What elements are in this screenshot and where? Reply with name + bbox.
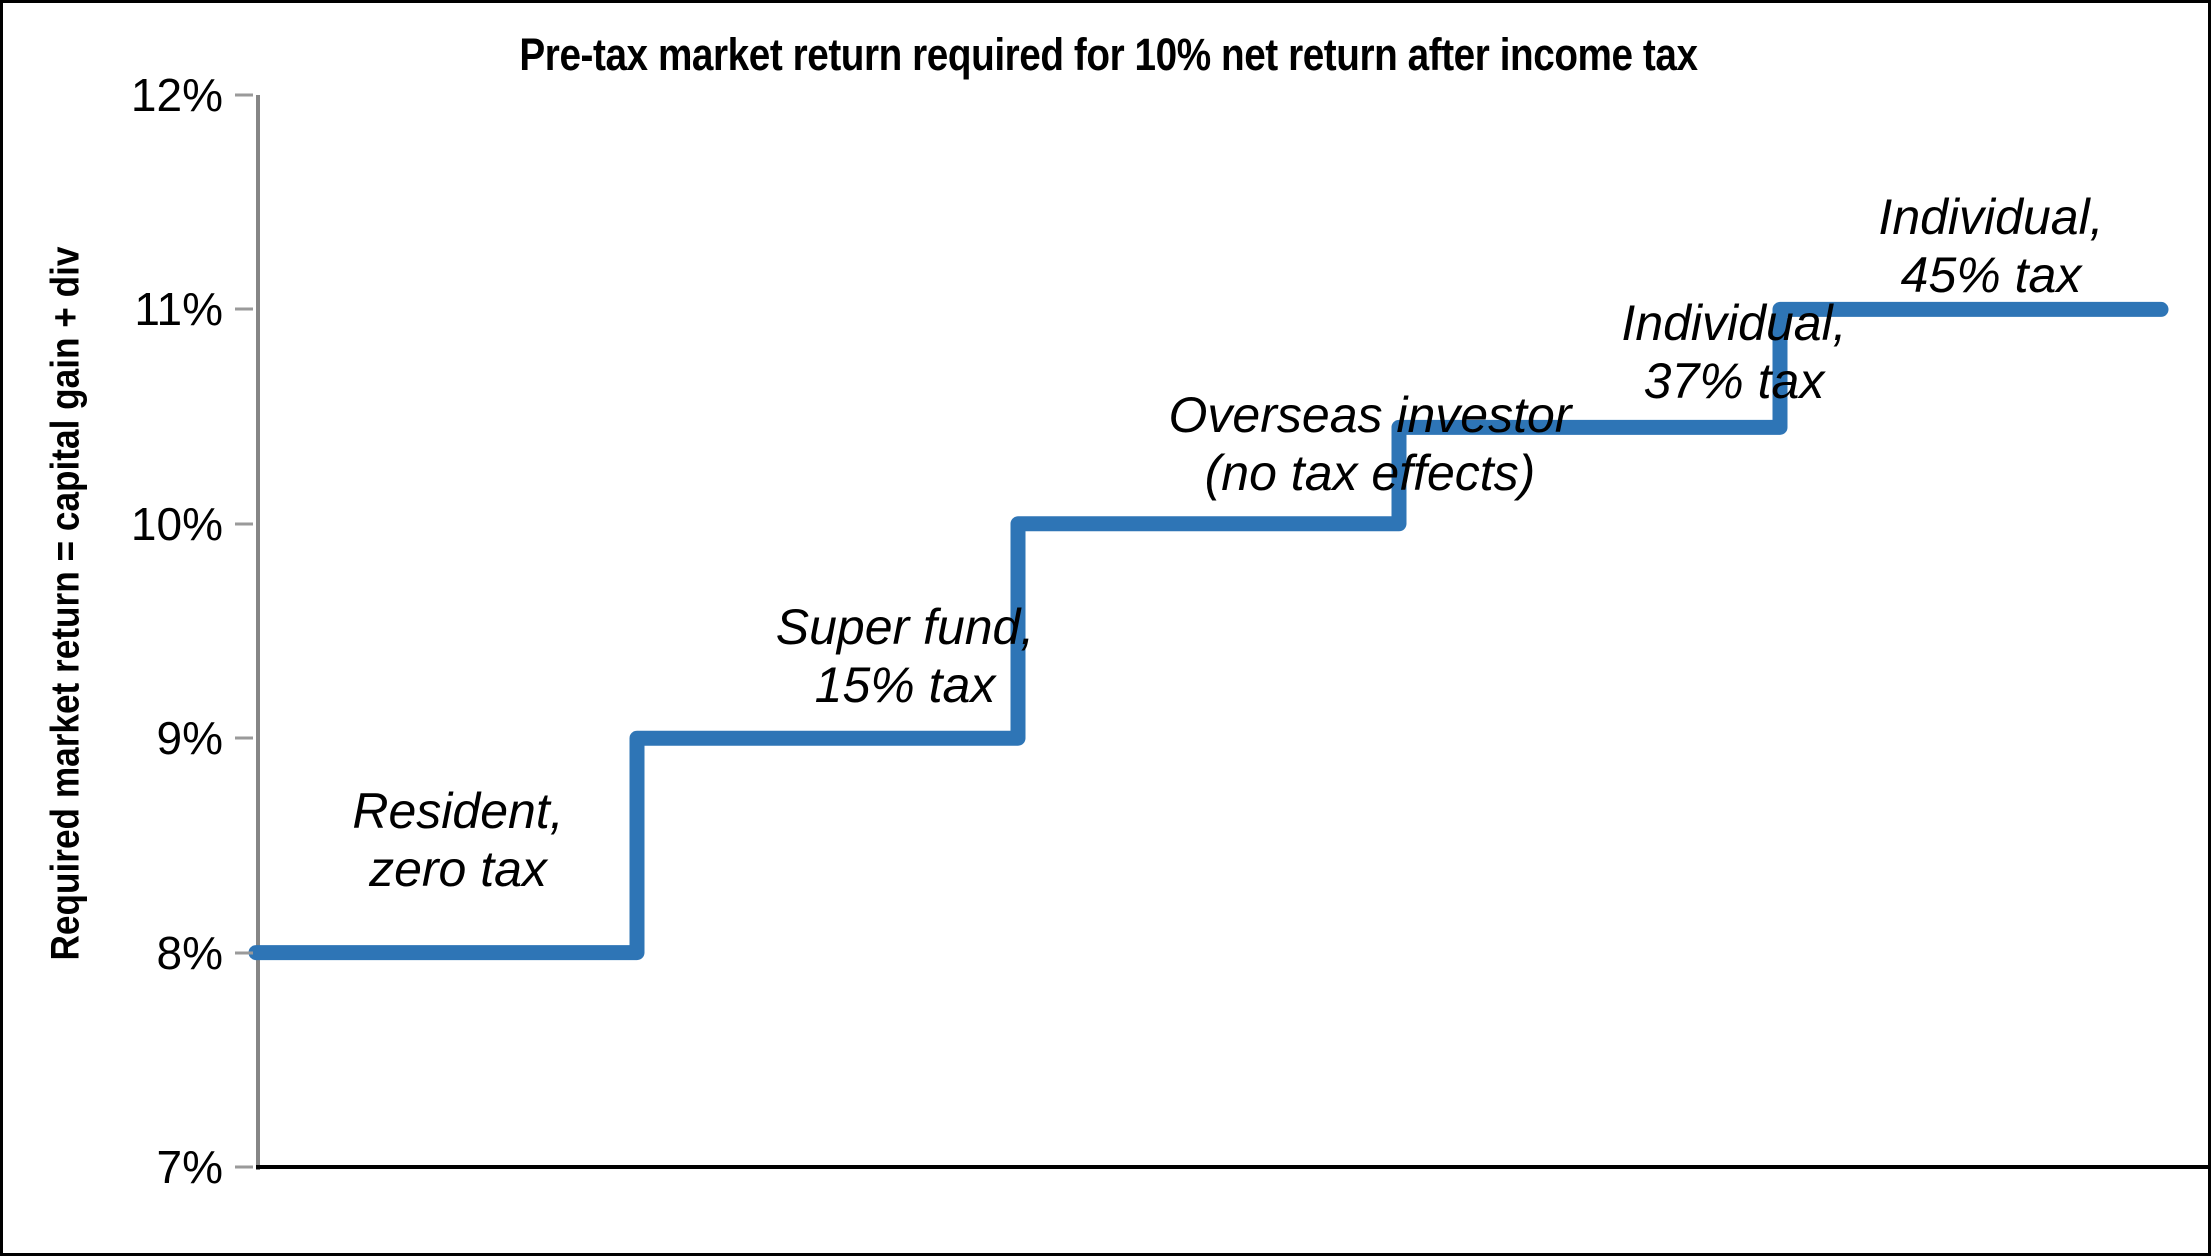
annotation-line-2: (no tax effects) — [1169, 444, 1572, 502]
data-point-annotation: Resident,zero tax — [352, 782, 563, 898]
y-axis-tick-mark — [235, 1166, 253, 1169]
annotation-line-1: Super fund, — [776, 598, 1035, 656]
y-axis-tick-mark — [235, 737, 253, 740]
data-point-annotation: Super fund,15% tax — [776, 598, 1035, 714]
chart-title: Pre-tax market return required for 10% n… — [158, 29, 2059, 81]
data-point-annotation: Individual,37% tax — [1621, 294, 1846, 410]
y-axis-tick-mark — [235, 94, 253, 97]
annotation-line-1: Individual, — [1621, 294, 1846, 352]
annotation-line-2: 15% tax — [776, 656, 1035, 714]
annotation-line-1: Individual, — [1878, 188, 2103, 246]
y-axis-tick-mark — [235, 308, 253, 311]
data-point-annotation: Individual,45% tax — [1878, 188, 2103, 304]
y-axis-tick-mark — [235, 522, 253, 525]
annotation-line-2: 37% tax — [1621, 352, 1846, 410]
annotation-line-2: zero tax — [352, 840, 563, 898]
data-point-annotation: Overseas investor(no tax effects) — [1169, 386, 1572, 502]
y-axis-tick-mark — [235, 951, 253, 954]
annotation-line-1: Overseas investor — [1169, 386, 1572, 444]
annotation-line-2: 45% tax — [1878, 246, 2103, 304]
annotation-line-1: Resident, — [352, 782, 563, 840]
chart-figure: Pre-tax market return required for 10% n… — [0, 0, 2211, 1256]
